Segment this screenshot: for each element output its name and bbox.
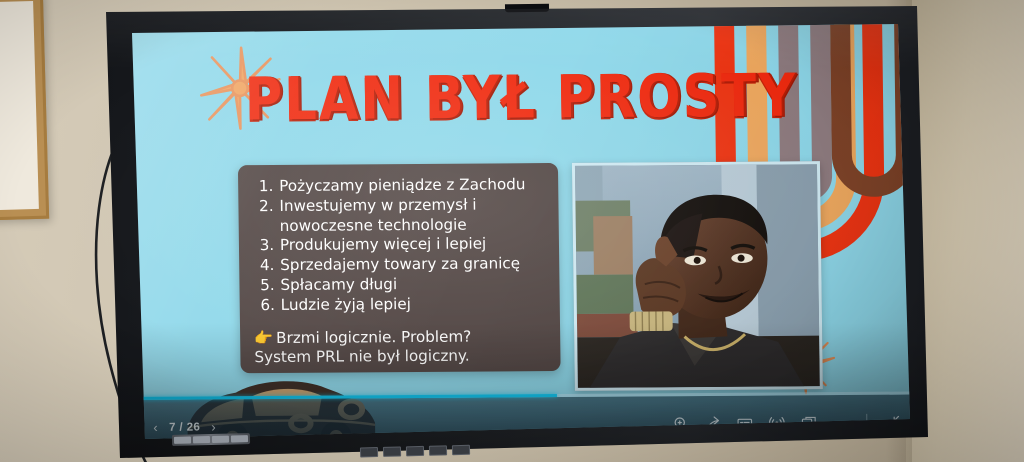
port — [429, 445, 447, 455]
bezel-button[interactable] — [231, 435, 248, 442]
port — [452, 445, 470, 455]
bezel-button[interactable] — [193, 436, 210, 443]
bezel-button[interactable] — [212, 436, 229, 443]
bezel-button[interactable] — [174, 436, 191, 443]
port — [383, 446, 401, 456]
bezel-control-buttons[interactable] — [172, 433, 250, 446]
port — [360, 447, 378, 457]
framed-picture — [0, 0, 49, 221]
room-photo-scene: PLAN BYŁ PROSTY Pożyczamy pieniądze z Za… — [0, 0, 1024, 462]
bezel-shading — [98, 6, 928, 458]
port — [406, 446, 424, 456]
